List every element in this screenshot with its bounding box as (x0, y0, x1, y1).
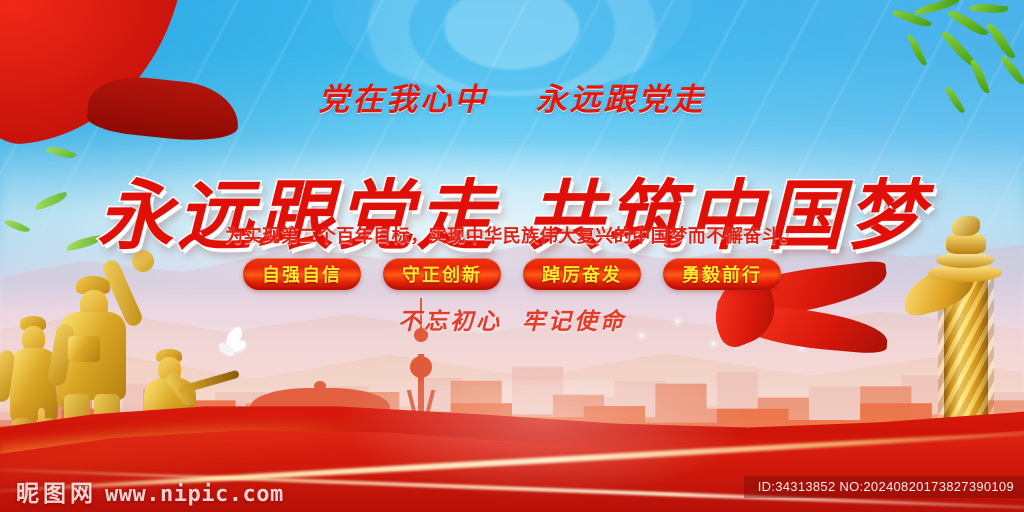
oath-part-2: 牢记使命 (522, 309, 626, 334)
poster-subtitle: 党在我心中 永远跟党走 (0, 74, 1024, 119)
slogan-pill-4[interactable]: 勇毅前行 (663, 258, 781, 290)
subtitle-part-2: 永远跟党走 (536, 74, 706, 119)
subtitle-part-1: 党在我心中 (318, 74, 488, 119)
slogan-pill-3[interactable]: 踔厉奋发 (523, 258, 641, 290)
poster-oath: 不忘初心牢记使命 (0, 302, 1024, 336)
oath-part-1: 不忘初心 (398, 309, 502, 334)
slogan-pill-2[interactable]: 守正创新 (383, 258, 501, 290)
asset-id-badge: ID:34313852 NO:20240820173827390109 (744, 476, 1024, 498)
poster-tagline: 为实现第二个百年目标，实现中华民族伟大复兴的中国梦而不懈奋斗。 (0, 222, 1024, 248)
text-content: 党在我心中 永远跟党走 永远跟党走共筑中国梦 为实现第二个百年目标，实现中华民族… (0, 0, 1024, 512)
slogan-pill-1[interactable]: 自强自信 (243, 258, 361, 290)
poster-canvas: 党在我心中 永远跟党走 永远跟党走共筑中国梦 为实现第二个百年目标，实现中华民族… (0, 0, 1024, 512)
slogan-pill-group: 自强自信 守正创新 踔厉奋发 勇毅前行 (0, 258, 1024, 290)
